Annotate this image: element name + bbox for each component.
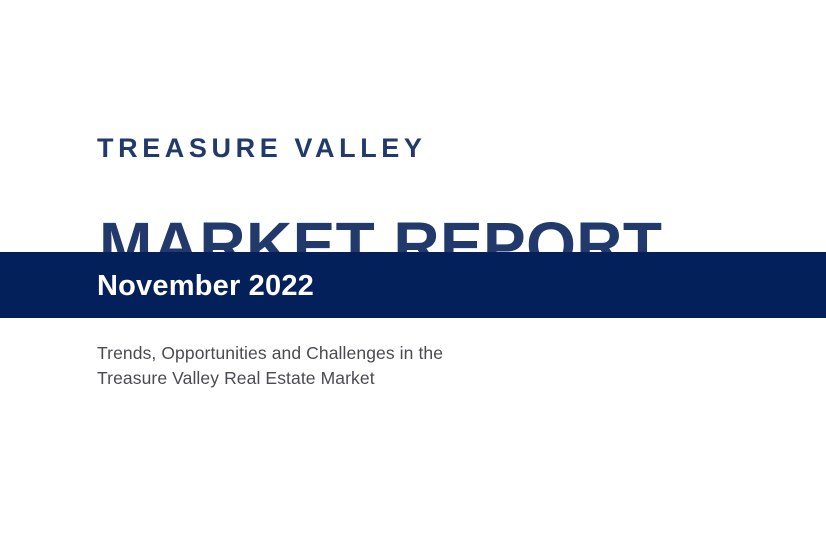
subtitle-line-2: Treasure Valley Real Estate Market [97,366,697,391]
brand-eyebrow: TREASURE VALLEY [97,133,427,163]
report-date-label: November 2022 [97,270,314,302]
report-subtitle: Trends, Opportunities and Challenges in … [97,341,697,391]
report-cover-page: TREASURE VALLEY MARKET REPORT November 2… [0,0,826,548]
date-band: November 2022 [0,252,826,318]
subtitle-line-1: Trends, Opportunities and Challenges in … [97,341,697,366]
